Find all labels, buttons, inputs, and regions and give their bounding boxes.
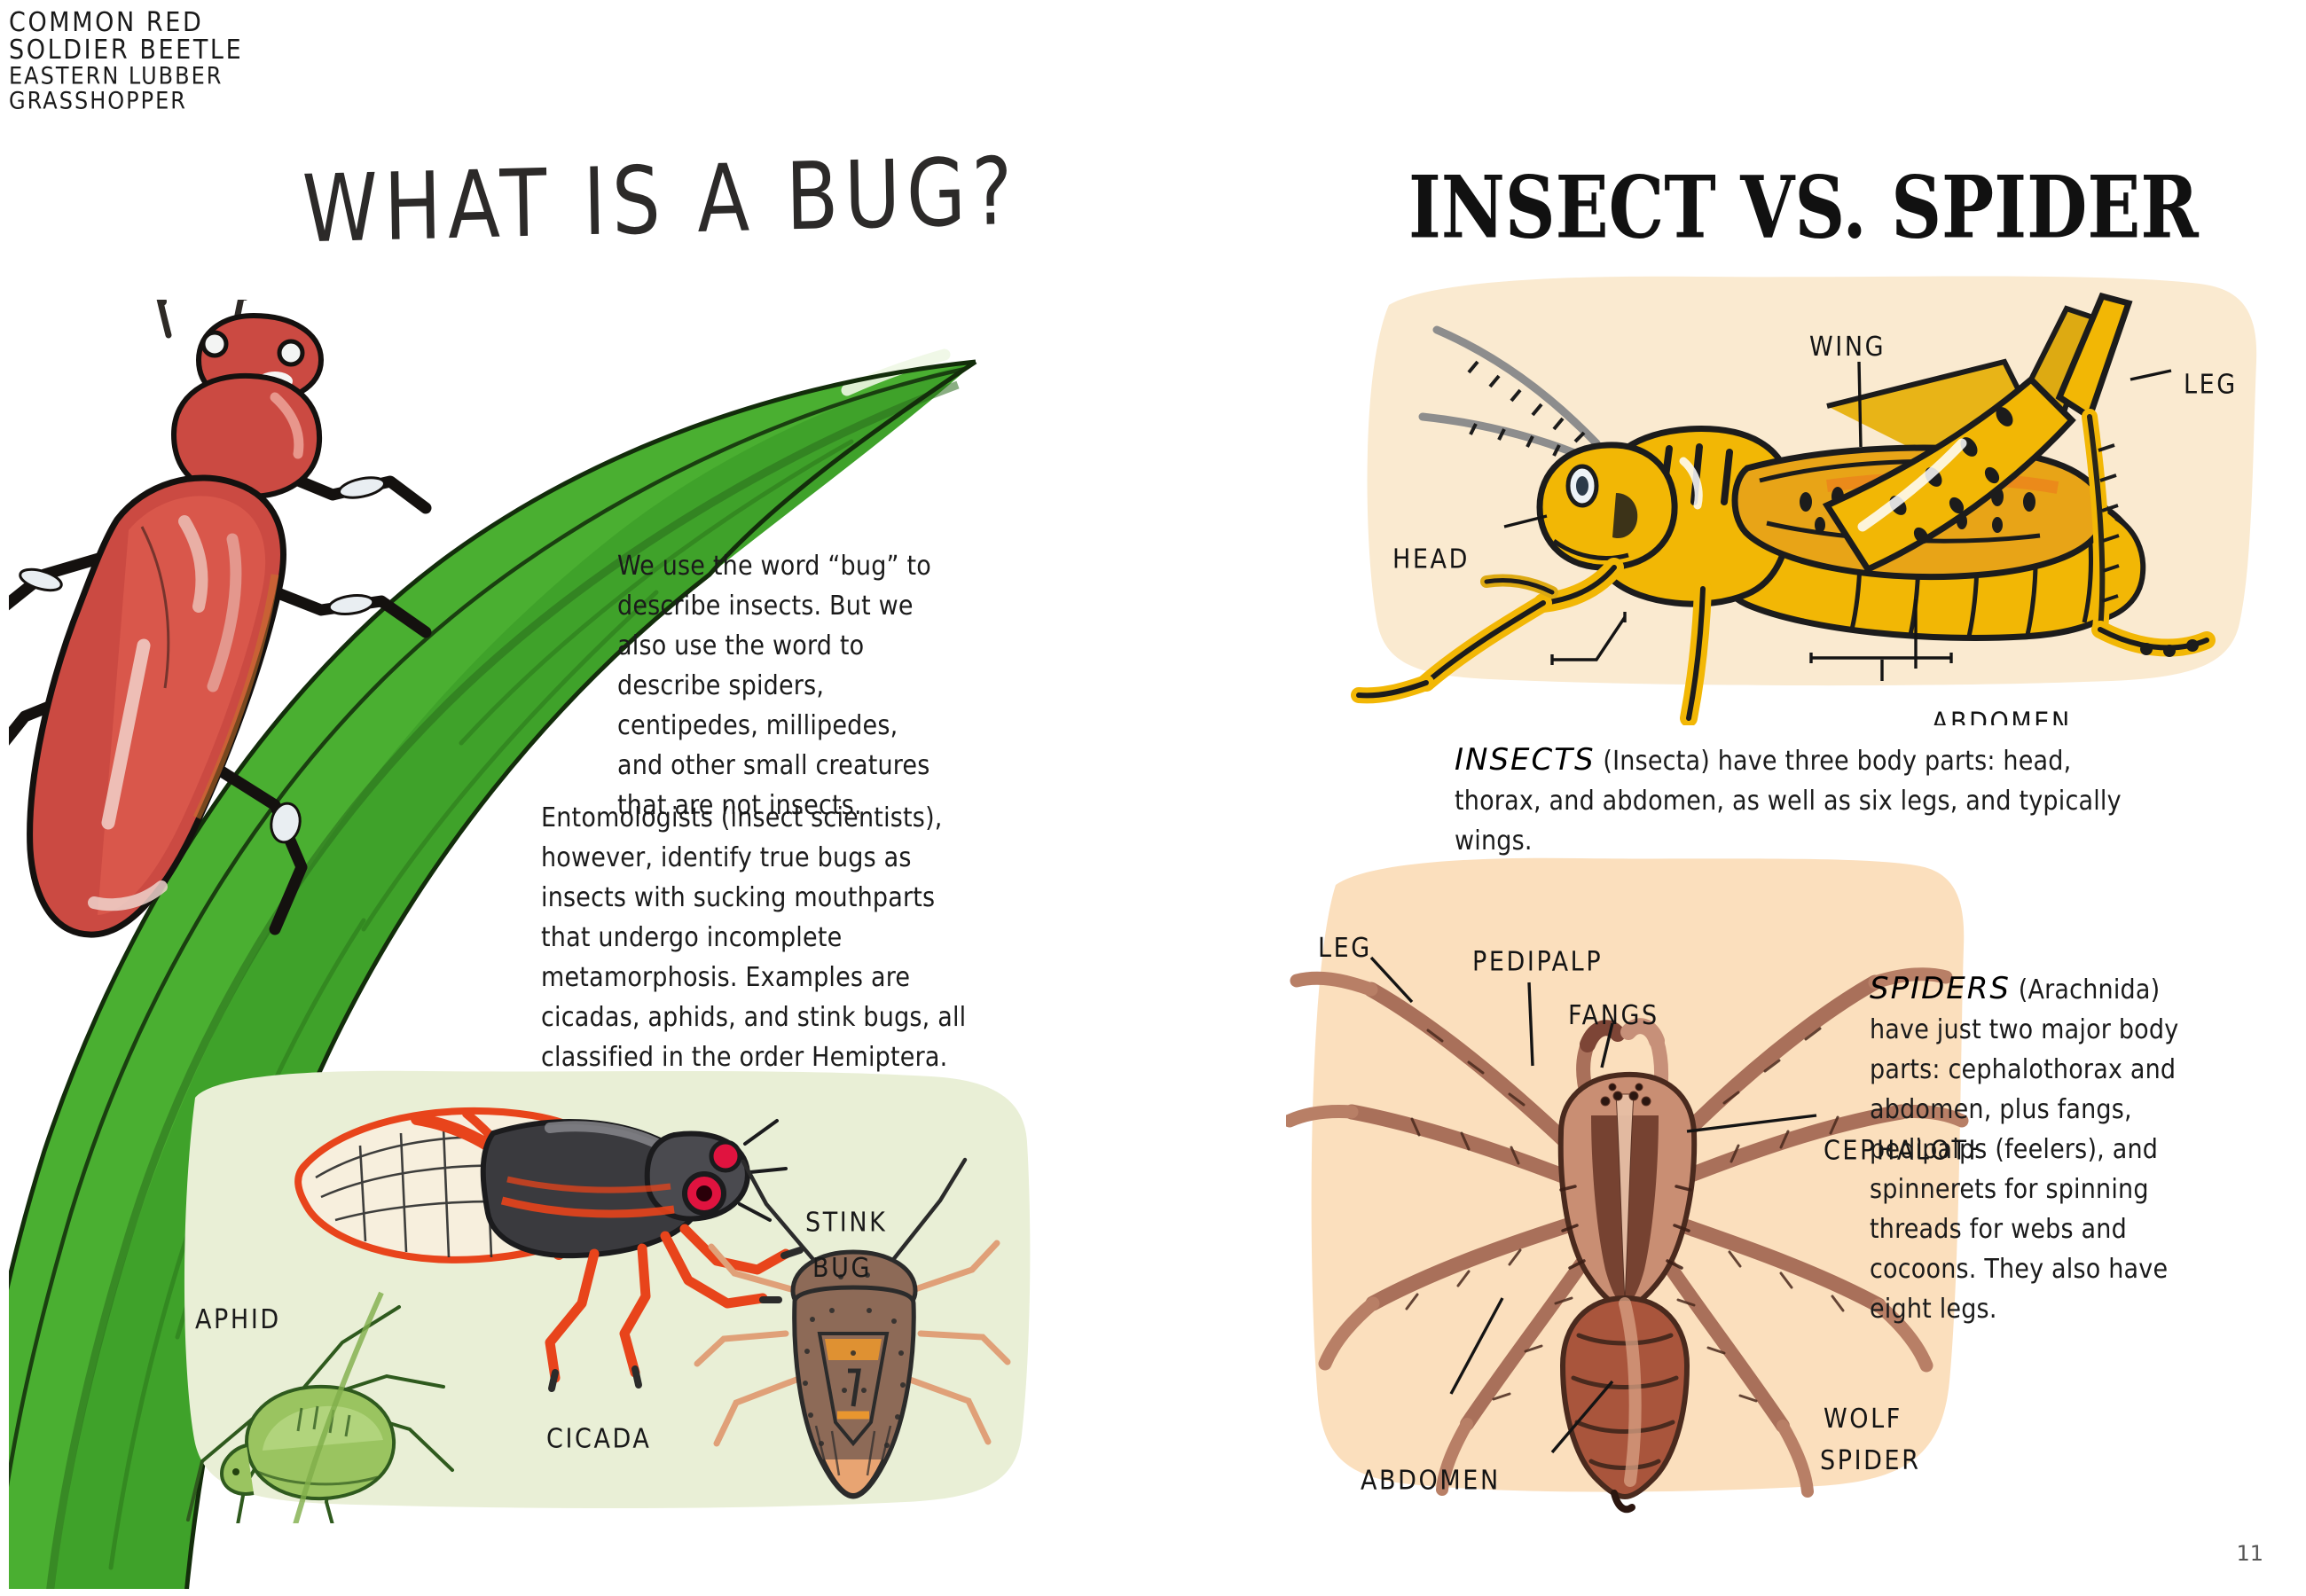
book-spread-page: WHAT IS A BUG? COMMON RED SOLDIER BEETLE…	[0, 0, 2306, 1596]
insects-lead-word: INSECTS	[1455, 742, 1596, 778]
insects-caption: INSECTS (Insecta) have three body parts:…	[1455, 741, 2129, 861]
grasshopper-leg-label: LEG	[2184, 368, 2238, 400]
spider-species-line2: SPIDER	[1820, 1443, 1921, 1475]
cicada-label: CICADA	[546, 1422, 652, 1454]
spiders-caption: SPIDERS (Arachnida) have just two major …	[1870, 970, 2189, 1329]
stinkbug-label-line1: STINK	[805, 1206, 887, 1238]
grasshopper-panel: HEAD WING LEG THORAX ABDOMEN	[1330, 264, 2271, 725]
spider-leg-label: LEG	[1318, 931, 1372, 963]
stinkbug-label-line2: BUG	[812, 1251, 872, 1283]
beetle-label-line1: COMMON RED	[9, 7, 2295, 38]
grasshopper-head-label: HEAD	[1392, 543, 1470, 575]
spread-canvas: WHAT IS A BUG? COMMON RED SOLDIER BEETLE…	[9, 7, 2295, 1589]
paragraph-what-is-a-bug: We use the word “bug” to describe insect…	[617, 546, 947, 825]
page-title-left: WHAT IS A BUG?	[302, 137, 1019, 264]
spiders-lead-word: SPIDERS	[1870, 971, 2011, 1006]
grasshopper-abdomen-label: ABDOMEN	[1932, 706, 2072, 725]
spider-species-line1: WOLF	[1824, 1402, 1902, 1434]
page-title-right: INSECT VS. SPIDER	[1408, 158, 2199, 258]
page-number: 11	[2236, 1541, 2263, 1566]
spiders-caption-text: (Arachnida) have just two major body par…	[1870, 974, 2178, 1325]
true-bugs-panel: APHID	[160, 1062, 1047, 1523]
grasshopper-species-line1: EASTERN LUBBER	[9, 62, 2295, 90]
spider-fangs-label: FANGS	[1568, 999, 1659, 1031]
paragraph-entomologists: Entomologists (insect scientists), howev…	[541, 798, 967, 1077]
aphid-label: APHID	[195, 1303, 281, 1335]
beetle-label-line2: SOLDIER BEETLE	[9, 35, 2295, 66]
grasshopper-species-line2: GRASSHOPPER	[9, 87, 2295, 114]
grasshopper-wing-label: WING	[1809, 331, 1886, 363]
spider-abdomen-label: ABDOMEN	[1361, 1464, 1501, 1496]
spider-pedipalp-label: PEDIPALP	[1472, 945, 1603, 977]
